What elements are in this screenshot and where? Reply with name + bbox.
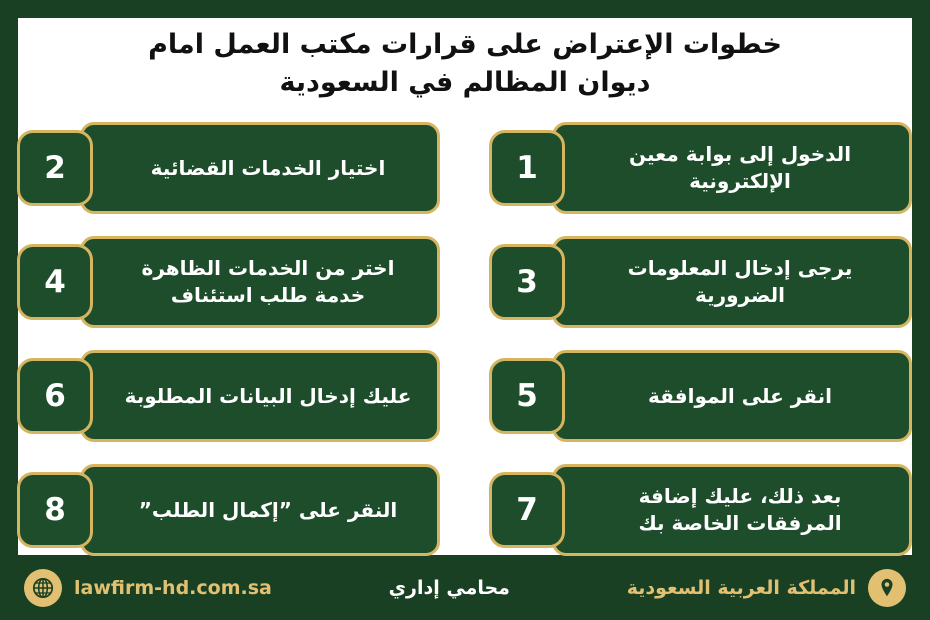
step-card-body: بعد ذلك، عليك إضافة المرفقات الخاصة بك <box>552 464 912 556</box>
step-label: يرجى إدخال المعلومات الضرورية <box>589 255 891 309</box>
step-number-badge: 1 <box>489 130 565 206</box>
footer-location-text: المملكة العربية السعودية <box>627 577 856 599</box>
step-number-badge: 3 <box>489 244 565 320</box>
footer-role-text: محامي إداري <box>389 577 510 599</box>
step-number-badge: 4 <box>17 244 93 320</box>
step-number-badge: 6 <box>17 358 93 434</box>
step-row: يرجى إدخال المعلومات الضرورية 3 اختر من … <box>18 236 912 328</box>
step-number: 1 <box>516 153 538 184</box>
step-card-8[interactable]: النقر على ”إكمال الطلب” 8 <box>18 464 440 556</box>
step-card-body: اختيار الخدمات القضائية <box>80 122 440 214</box>
step-number: 7 <box>516 495 538 526</box>
step-card-1[interactable]: الدخول إلى بوابة معين الإلكترونية 1 <box>490 122 912 214</box>
step-card-body: الدخول إلى بوابة معين الإلكترونية <box>552 122 912 214</box>
page-title: خطوات الإعتراض على قرارات مكتب العمل اما… <box>18 26 912 102</box>
footer-website-text: lawfirm-hd.com.sa <box>74 577 272 599</box>
step-card-2[interactable]: اختيار الخدمات القضائية 2 <box>18 122 440 214</box>
step-label: انقر على الموافقة <box>589 383 891 410</box>
step-row: الدخول إلى بوابة معين الإلكترونية 1 اختي… <box>18 122 912 214</box>
footer-bar: المملكة العربية السعودية محامي إداري law… <box>0 555 930 620</box>
step-label: اختر من الخدمات الظاهرة خدمة طلب استئناف <box>117 255 419 309</box>
step-card-body: انقر على الموافقة <box>552 350 912 442</box>
title-line-1: خطوات الإعتراض على قرارات مكتب العمل اما… <box>58 26 872 64</box>
step-card-5[interactable]: انقر على الموافقة 5 <box>490 350 912 442</box>
steps-grid: الدخول إلى بوابة معين الإلكترونية 1 اختي… <box>18 118 912 548</box>
step-number-badge: 8 <box>17 472 93 548</box>
step-number-badge: 2 <box>17 130 93 206</box>
step-card-7[interactable]: بعد ذلك، عليك إضافة المرفقات الخاصة بك 7 <box>490 464 912 556</box>
footer-website[interactable]: lawfirm-hd.com.sa <box>24 569 272 607</box>
step-card-body: اختر من الخدمات الظاهرة خدمة طلب استئناف <box>80 236 440 328</box>
step-number: 3 <box>516 267 538 298</box>
step-number-badge: 7 <box>489 472 565 548</box>
infographic-poster: خطوات الإعتراض على قرارات مكتب العمل اما… <box>0 0 930 620</box>
step-card-3[interactable]: يرجى إدخال المعلومات الضرورية 3 <box>490 236 912 328</box>
globe-icon <box>24 569 62 607</box>
location-pin-icon <box>868 569 906 607</box>
step-number: 4 <box>44 267 66 298</box>
footer-location: المملكة العربية السعودية <box>627 569 906 607</box>
step-label: عليك إدخال البيانات المطلوبة <box>117 383 419 410</box>
step-card-6[interactable]: عليك إدخال البيانات المطلوبة 6 <box>18 350 440 442</box>
step-label: الدخول إلى بوابة معين الإلكترونية <box>589 141 891 195</box>
step-number: 5 <box>516 381 538 412</box>
step-label: اختيار الخدمات القضائية <box>117 155 419 182</box>
step-number-badge: 5 <box>489 358 565 434</box>
step-row: بعد ذلك، عليك إضافة المرفقات الخاصة بك 7… <box>18 464 912 556</box>
footer-role: محامي إداري <box>389 577 510 599</box>
step-card-4[interactable]: اختر من الخدمات الظاهرة خدمة طلب استئناف… <box>18 236 440 328</box>
step-number: 8 <box>44 495 66 526</box>
step-number: 6 <box>44 381 66 412</box>
step-card-body: يرجى إدخال المعلومات الضرورية <box>552 236 912 328</box>
title-line-2: ديوان المظالم في السعودية <box>58 64 872 102</box>
step-label: النقر على ”إكمال الطلب” <box>117 497 419 524</box>
step-row: انقر على الموافقة 5 عليك إدخال البيانات … <box>18 350 912 442</box>
step-number: 2 <box>44 153 66 184</box>
content-panel: خطوات الإعتراض على قرارات مكتب العمل اما… <box>18 18 912 555</box>
step-card-body: عليك إدخال البيانات المطلوبة <box>80 350 440 442</box>
step-label: بعد ذلك، عليك إضافة المرفقات الخاصة بك <box>589 483 891 537</box>
step-card-body: النقر على ”إكمال الطلب” <box>80 464 440 556</box>
